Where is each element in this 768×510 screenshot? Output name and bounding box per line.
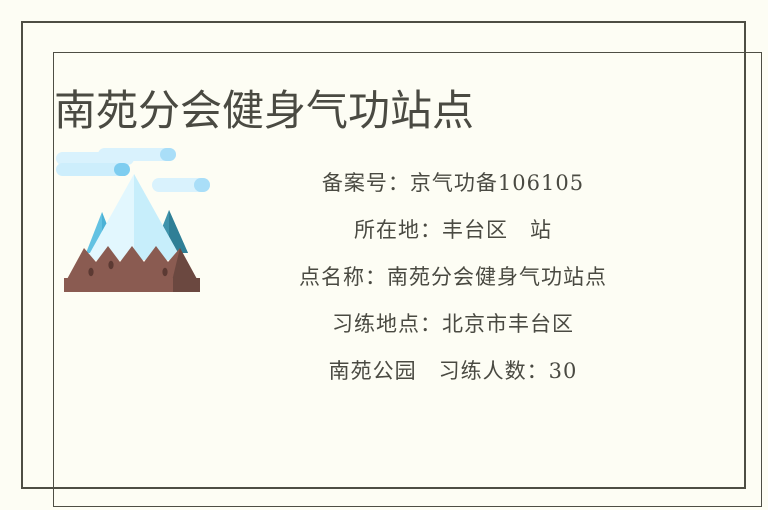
detail-location: 所在地：丰台区 站 xyxy=(218,207,688,254)
page-title: 南苑分会健身气功站点 xyxy=(54,85,474,138)
site-details: 备案号：京气功备106105 所在地：丰台区 站 点名称：南苑分会健身气功站点 … xyxy=(218,160,688,395)
detail-practice-place: 习练地点：北京市丰台区 xyxy=(218,301,688,348)
mountain-illustration xyxy=(54,148,212,298)
detail-participants: 南苑公园 习练人数：30 xyxy=(218,348,688,395)
rock-dot xyxy=(162,268,167,276)
rock-dot xyxy=(88,268,93,276)
rock-dot xyxy=(108,261,113,269)
detail-record-number: 备案号：京气功备106105 xyxy=(218,160,688,207)
detail-site-name: 点名称：南苑分会健身气功站点 xyxy=(218,254,688,301)
page-root: 南苑分会健身气功站点 xyxy=(0,0,768,510)
